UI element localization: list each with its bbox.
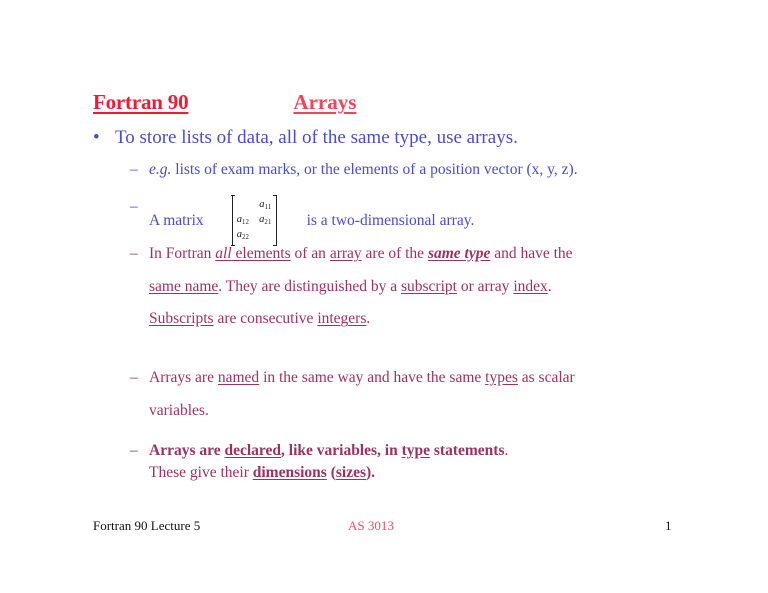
footer-page-number: 1 [665,518,672,534]
fortran-array-underline: array [330,245,362,262]
slide-title-row: Fortran 90 Arrays [93,90,693,115]
bullet-level1: • To store lists of data, all of the sam… [93,126,733,150]
fortran-p1: In Fortran [149,245,215,262]
dash-marker-icon: – [130,441,149,461]
page-title: Fortran 90 [93,90,188,115]
fortran-p4: and have the [490,245,572,262]
named-c: as scalar [518,369,575,386]
type-underline: type [402,442,430,459]
fortran-line2-c: . [548,278,552,295]
fortran-samename-underline: same name [149,278,218,295]
declared-b: , like variables, in [281,442,402,459]
declared-d: . [504,442,508,459]
declared-line2-b: ( [327,464,336,481]
dimensions-underline: dimensions [253,464,327,481]
declared-a: Arrays are [149,442,224,459]
slide-footer: Fortran 90 Lecture 5 AS 3013 1 [0,518,768,540]
named-underline: named [218,369,259,386]
fortran-integers-underline: integers [317,310,366,327]
declared-underline: declared [224,442,281,459]
dash-marker-icon: – [130,244,149,264]
fortran-subscripts-underline: Subscripts [149,310,214,327]
sub-bullet-matrix: – A matrixa11a12a21a22is a two-dimension… [130,197,730,246]
declared-c: statements [430,442,504,459]
fortran-p2: of an [291,245,330,262]
footer-left-text: Fortran 90 Lecture 5 [93,518,200,534]
sizes-underline: sizes [336,464,366,481]
matrix-cell-a12: a12 [237,213,249,227]
declared-line2-a: These give their [149,464,253,481]
dash-marker-icon: – [130,197,149,217]
named-line2: variables. [149,401,730,421]
fortran-index-underline: index [513,278,547,295]
sub-bullet-fortran-body: In Fortran all elements of an array are … [149,244,730,329]
sub-bullet-arrays-declared: – Arrays are declared, like variables, i… [130,441,730,482]
matrix-label-before: A matrix [149,212,204,229]
sub-bullet-fortran-elements: – In Fortran all elements of an array ar… [130,244,730,329]
fortran-line2-b: or array [457,278,513,295]
matrix-cell-a22: a22 [237,228,249,242]
types-underline: types [485,369,518,386]
fortran-all-underline: all elements [215,245,290,262]
matrix-label-after: is a two-dimensional array. [307,212,475,229]
bullet-dot-icon: • [93,126,115,150]
fortran-line3: Subscripts are consecutive integers. [149,309,730,329]
fortran-sametype-emphasis: same type [428,245,490,262]
sub-bullet-declared-body: Arrays are declared, like variables, in … [149,441,730,482]
page-subtitle: Arrays [293,90,356,115]
fortran-line2-a: . They are distinguished by a [218,278,401,295]
matrix-cell-a11: a11 [259,198,271,212]
dash-marker-icon: – [130,160,149,180]
eg-rest: lists of exam marks, or the elements of … [171,161,577,178]
fortran-subscript-underline: subscript [401,278,457,295]
bullet-level1-text: To store lists of data, all of the same … [115,126,733,150]
fortran-line2: same name. They are distinguished by a s… [149,277,730,297]
sub-bullet-named-body: Arrays are named in the same way and hav… [149,368,730,420]
declared-line2: These give their dimensions (sizes). [149,463,730,483]
sub-bullet-examples-text: e.g. lists of exam marks, or the element… [149,160,730,180]
matrix-grid: a11a12a21a22 [232,196,277,245]
fortran-line3-b: . [366,310,370,327]
sub-bullet-arrays-named: – Arrays are named in the same way and h… [130,368,730,420]
footer-course-code: AS 3013 [348,518,394,534]
declared-line2-c: ). [366,464,375,481]
sub-bullet-matrix-text: A matrixa11a12a21a22is a two-dimensional… [149,197,730,246]
matrix-notation: a11a12a21a22 [232,196,277,245]
fortran-p3: are of the [362,245,428,262]
eg-italic: e.g. [149,161,171,178]
named-b: in the same way and have the same [259,369,485,386]
named-a: Arrays are [149,369,218,386]
matrix-cell-a21: a21 [259,213,271,227]
fortran-line3-a: are consecutive [214,310,318,327]
dash-marker-icon: – [130,368,149,388]
slide-canvas: Fortran 90 Arrays • To store lists of da… [0,0,768,593]
sub-bullet-examples: – e.g. lists of exam marks, or the eleme… [130,160,730,180]
